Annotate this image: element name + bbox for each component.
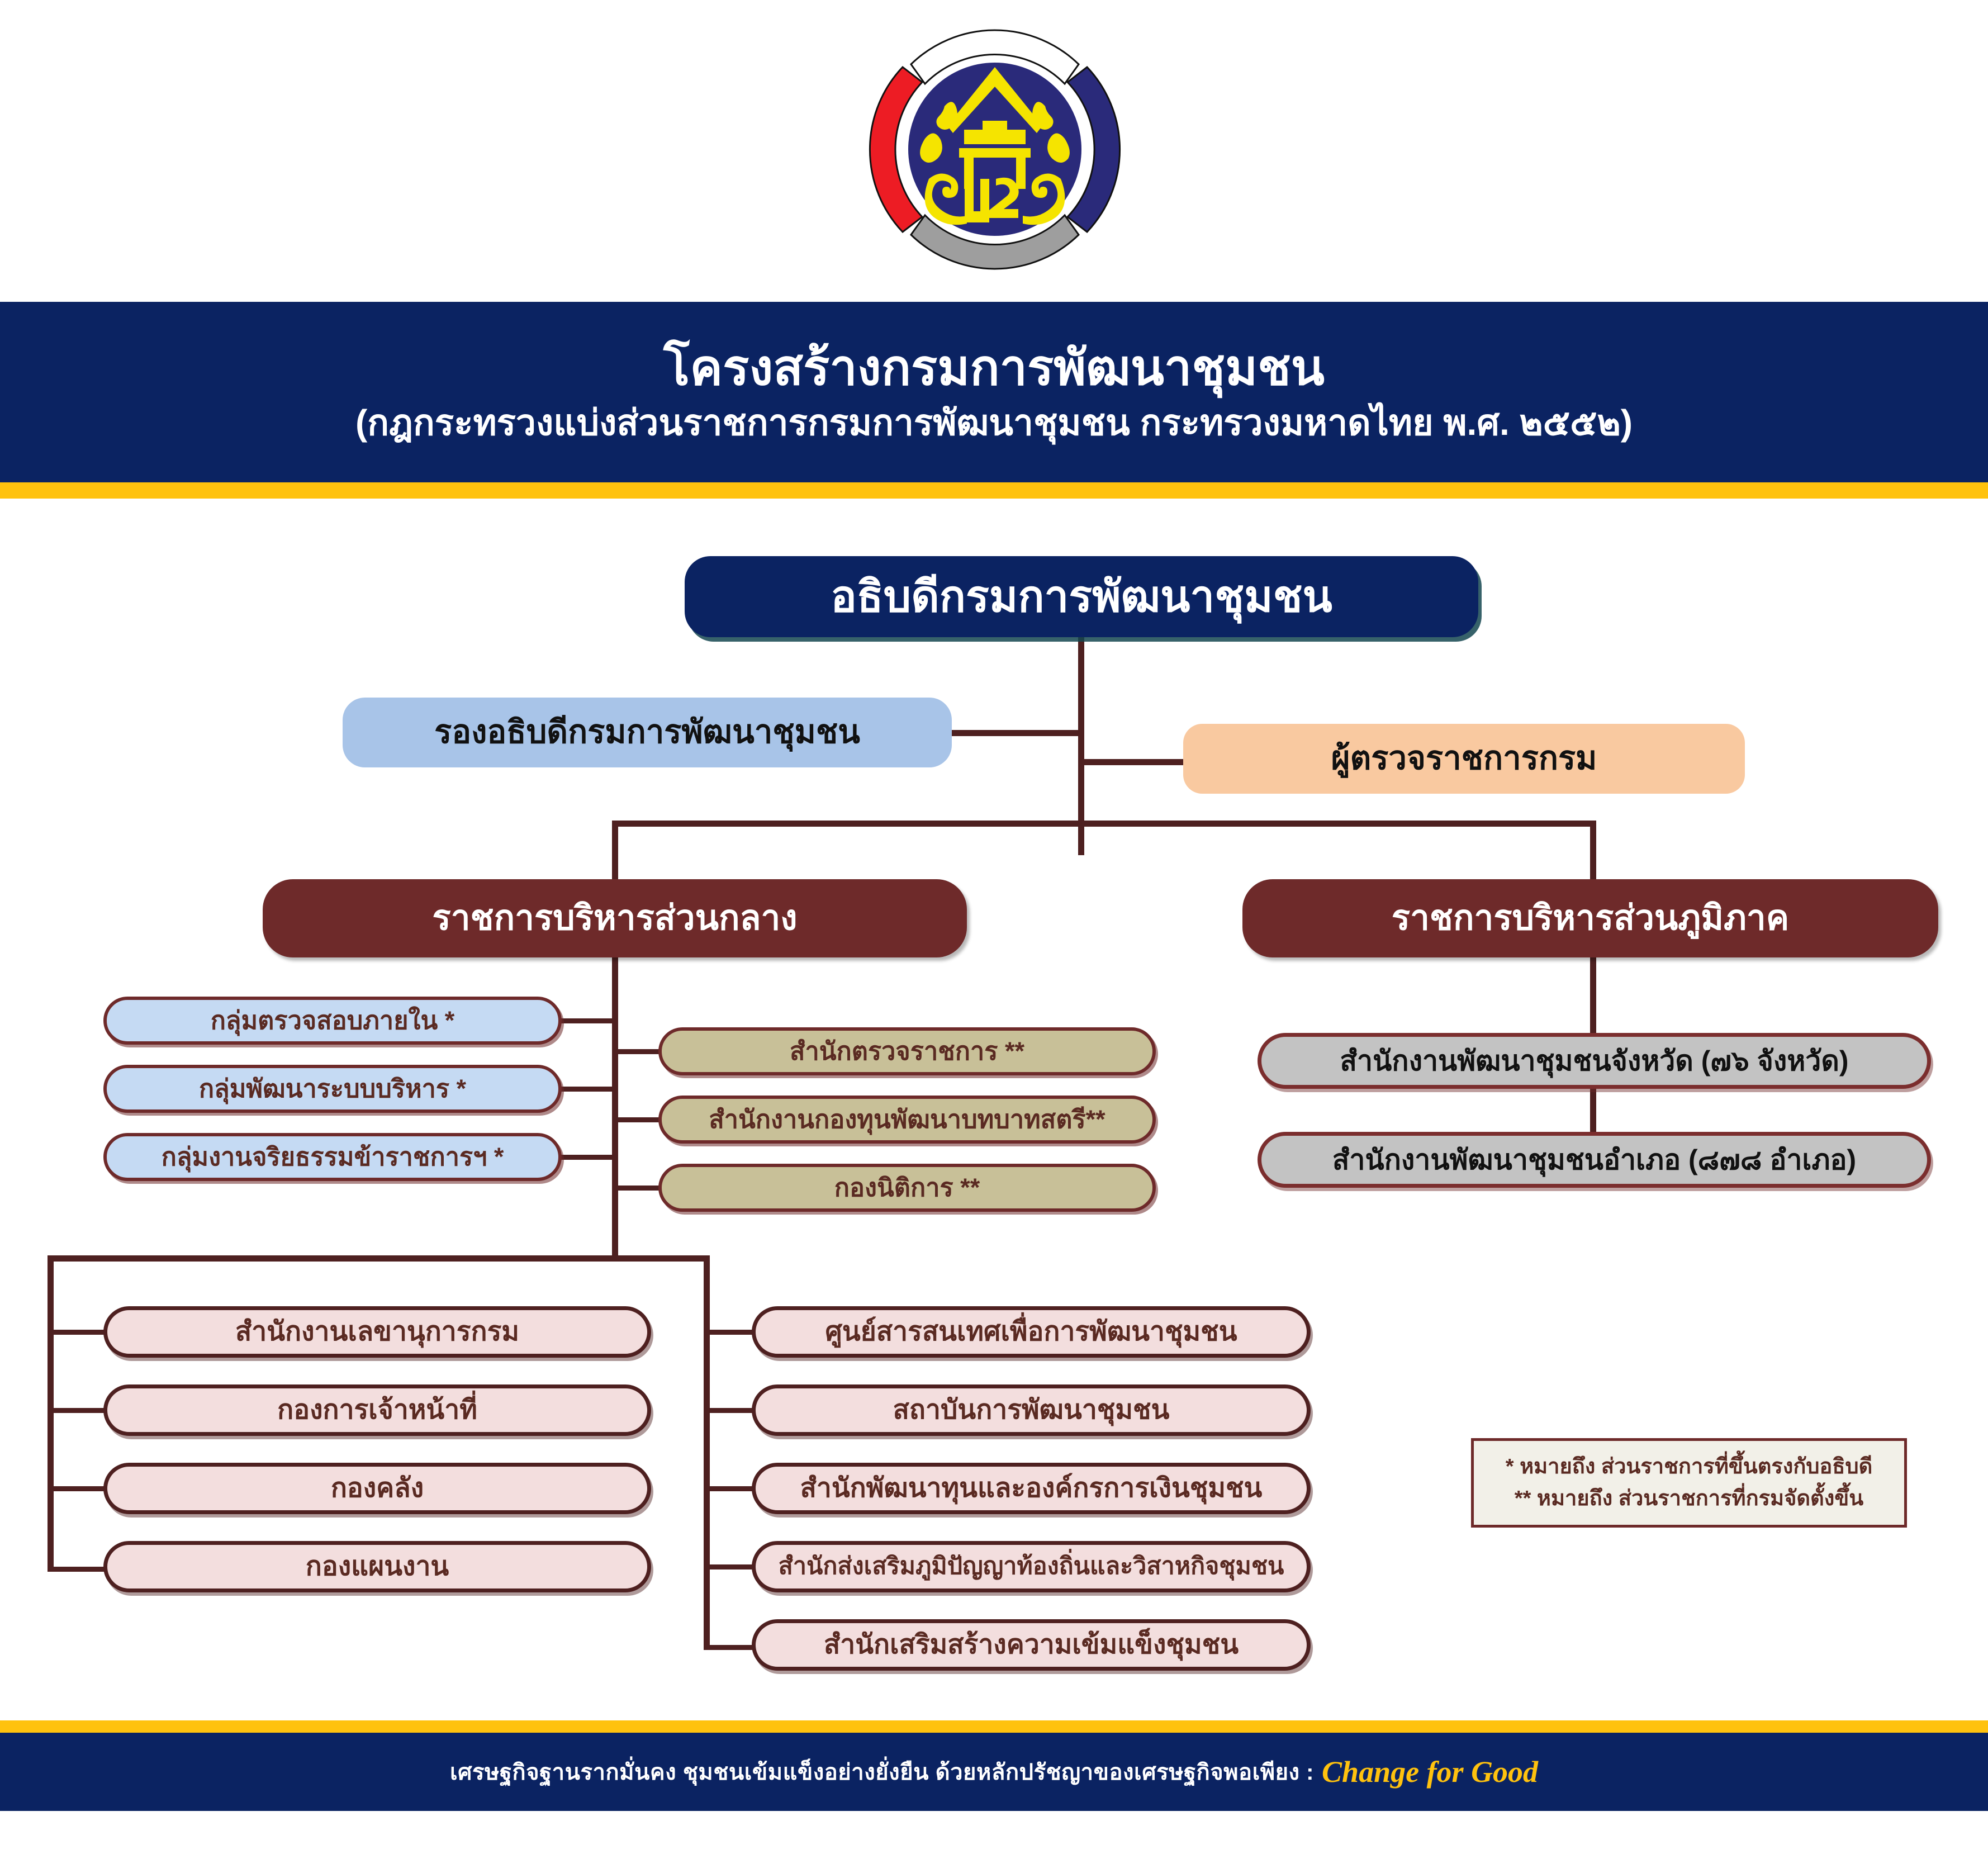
connector-main-split — [612, 821, 1596, 827]
connector-pinkR-3 — [704, 1486, 757, 1491]
page-title: โครงสร้างกรมการพัฒนาชุมชน — [663, 342, 1325, 393]
node-provincial-cd-office[interactable]: สำนักงานพัฒนาชุมชนจังหวัด (๗๖ จังหวัด) — [1258, 1033, 1931, 1089]
connector-provincial-link — [1590, 1089, 1596, 1134]
node-office-of-secretary[interactable]: สำนักงานเลขานุการกรม — [103, 1306, 651, 1358]
footer-motto: เศรษฐกิจฐานรากมั่นคง ชุมชนเข้มแข็งอย่างย… — [450, 1754, 1314, 1790]
node-district-cd-office[interactable]: สำนักงานพัฒนาชุมชนอำเภอ (๘๗๘ อำเภอ) — [1258, 1132, 1931, 1188]
footer-banner: เศรษฐกิจฐานรากมั่นคง ชุมชนเข้มแข็งอย่างย… — [0, 1733, 1988, 1811]
node-internal-audit-group[interactable]: กลุ่มตรวจสอบภายใน * — [103, 997, 562, 1045]
org-chart-page: โครงสร้างกรมการพัฒนาชุมชน (กฎกระทรวงแบ่ง… — [0, 0, 1988, 1873]
node-legal-affairs-division[interactable]: กองนิติการ ** — [658, 1164, 1156, 1212]
footer-gold-rule — [0, 1720, 1988, 1733]
node-deputy-director-general[interactable]: รองอธิบดีกรมการพัฒนาชุมชน — [343, 698, 952, 767]
connector-pinkL-4 — [48, 1567, 106, 1572]
connector-pinkR-5 — [704, 1645, 757, 1650]
connector-pinkR-1 — [704, 1330, 757, 1335]
page-subtitle: (กฎกระทรวงแบ่งส่วนราชการกรมการพัฒนาชุมชน… — [355, 403, 1633, 442]
legend-line-1: * หมายถึง ส่วนราชการที่ขึ้นตรงกับอธิบดี — [1506, 1451, 1873, 1483]
connector-provincial-down — [1590, 821, 1596, 882]
connector-pinkL-1 — [48, 1330, 106, 1335]
connector-bottom-right-stem — [704, 1255, 710, 1650]
node-director-general[interactable]: อธิบดีกรมการพัฒนาชุมชน — [685, 556, 1478, 637]
connector-pinkR-4 — [704, 1564, 757, 1569]
node-planning-division[interactable]: กองแผนงาน — [103, 1541, 651, 1592]
legend-line-2: ** หมายถึง ส่วนราชการที่กรมจัดตั้งขึ้น — [1515, 1483, 1863, 1515]
footer-slogan: Change for Good — [1322, 1755, 1538, 1789]
header-banner: โครงสร้างกรมการพัฒนาชุมชน (กฎกระทรวงแบ่ง… — [0, 302, 1988, 482]
legend-box: * หมายถึง ส่วนราชการที่ขึ้นตรงกับอธิบดี … — [1471, 1438, 1907, 1528]
node-civil-servant-ethics-group[interactable]: กลุ่มงานจริยธรรมข้าราชการฯ * — [103, 1133, 562, 1181]
connector-inspector — [1078, 759, 1187, 765]
node-inspection-bureau[interactable]: สำนักตรวจราชการ ** — [658, 1027, 1156, 1075]
header-gold-rule — [0, 482, 1988, 499]
connector-blue-1 — [559, 1018, 615, 1023]
node-community-strengthening-bureau[interactable]: สำนักเสริมสร้างความเข้มแข็งชุมชน — [752, 1619, 1311, 1671]
node-personnel-division[interactable]: กองการเจ้าหน้าที่ — [103, 1384, 651, 1436]
node-womens-role-development-fund-office[interactable]: สำนักงานกองทุนพัฒนาบทบาทสตรี** — [658, 1096, 1156, 1144]
connector-khaki-3 — [612, 1186, 662, 1191]
node-information-center[interactable]: ศูนย์สารสนเทศเพื่อการพัฒนาชุมชน — [752, 1306, 1311, 1358]
connector-bottom-bar — [48, 1255, 710, 1262]
connector-pinkR-2 — [704, 1408, 757, 1413]
node-local-wisdom-and-community-enterprise-bureau[interactable]: สำนักส่งเสริมภูมิปัญญาท้องถิ่นและวิสาหกิ… — [752, 1541, 1311, 1592]
connector-central-down — [612, 821, 618, 882]
connector-blue-2 — [559, 1087, 615, 1092]
connector-pinkL-2 — [48, 1408, 106, 1413]
connector-pinkL-3 — [48, 1486, 106, 1491]
connector-blue-3 — [559, 1155, 615, 1160]
connector-bottom-left-stem — [48, 1255, 54, 1572]
node-admin-system-development-group[interactable]: กลุ่มพัฒนาระบบบริหาร * — [103, 1065, 562, 1113]
cdd-emblem-logo — [850, 11, 1140, 285]
node-finance-division[interactable]: กองคลัง — [103, 1463, 651, 1514]
connector-khaki-2 — [612, 1117, 662, 1122]
connector-provincial-trunk — [1590, 957, 1596, 1036]
connector-central-trunk — [612, 957, 618, 1255]
node-central-administration-header[interactable]: ราชการบริหารส่วนกลาง — [263, 879, 967, 957]
node-department-inspector[interactable]: ผู้ตรวจราชการกรม — [1183, 724, 1745, 794]
node-provincial-administration-header[interactable]: ราชการบริหารส่วนภูมิภาค — [1242, 879, 1938, 957]
node-community-development-institute[interactable]: สถาบันการพัฒนาชุมชน — [752, 1384, 1311, 1436]
node-capital-and-community-finance-bureau[interactable]: สำนักพัฒนาทุนและองค์กรการเงินชุมชน — [752, 1463, 1311, 1514]
connector-khaki-1 — [612, 1049, 662, 1054]
connector-deputy — [952, 730, 1080, 736]
